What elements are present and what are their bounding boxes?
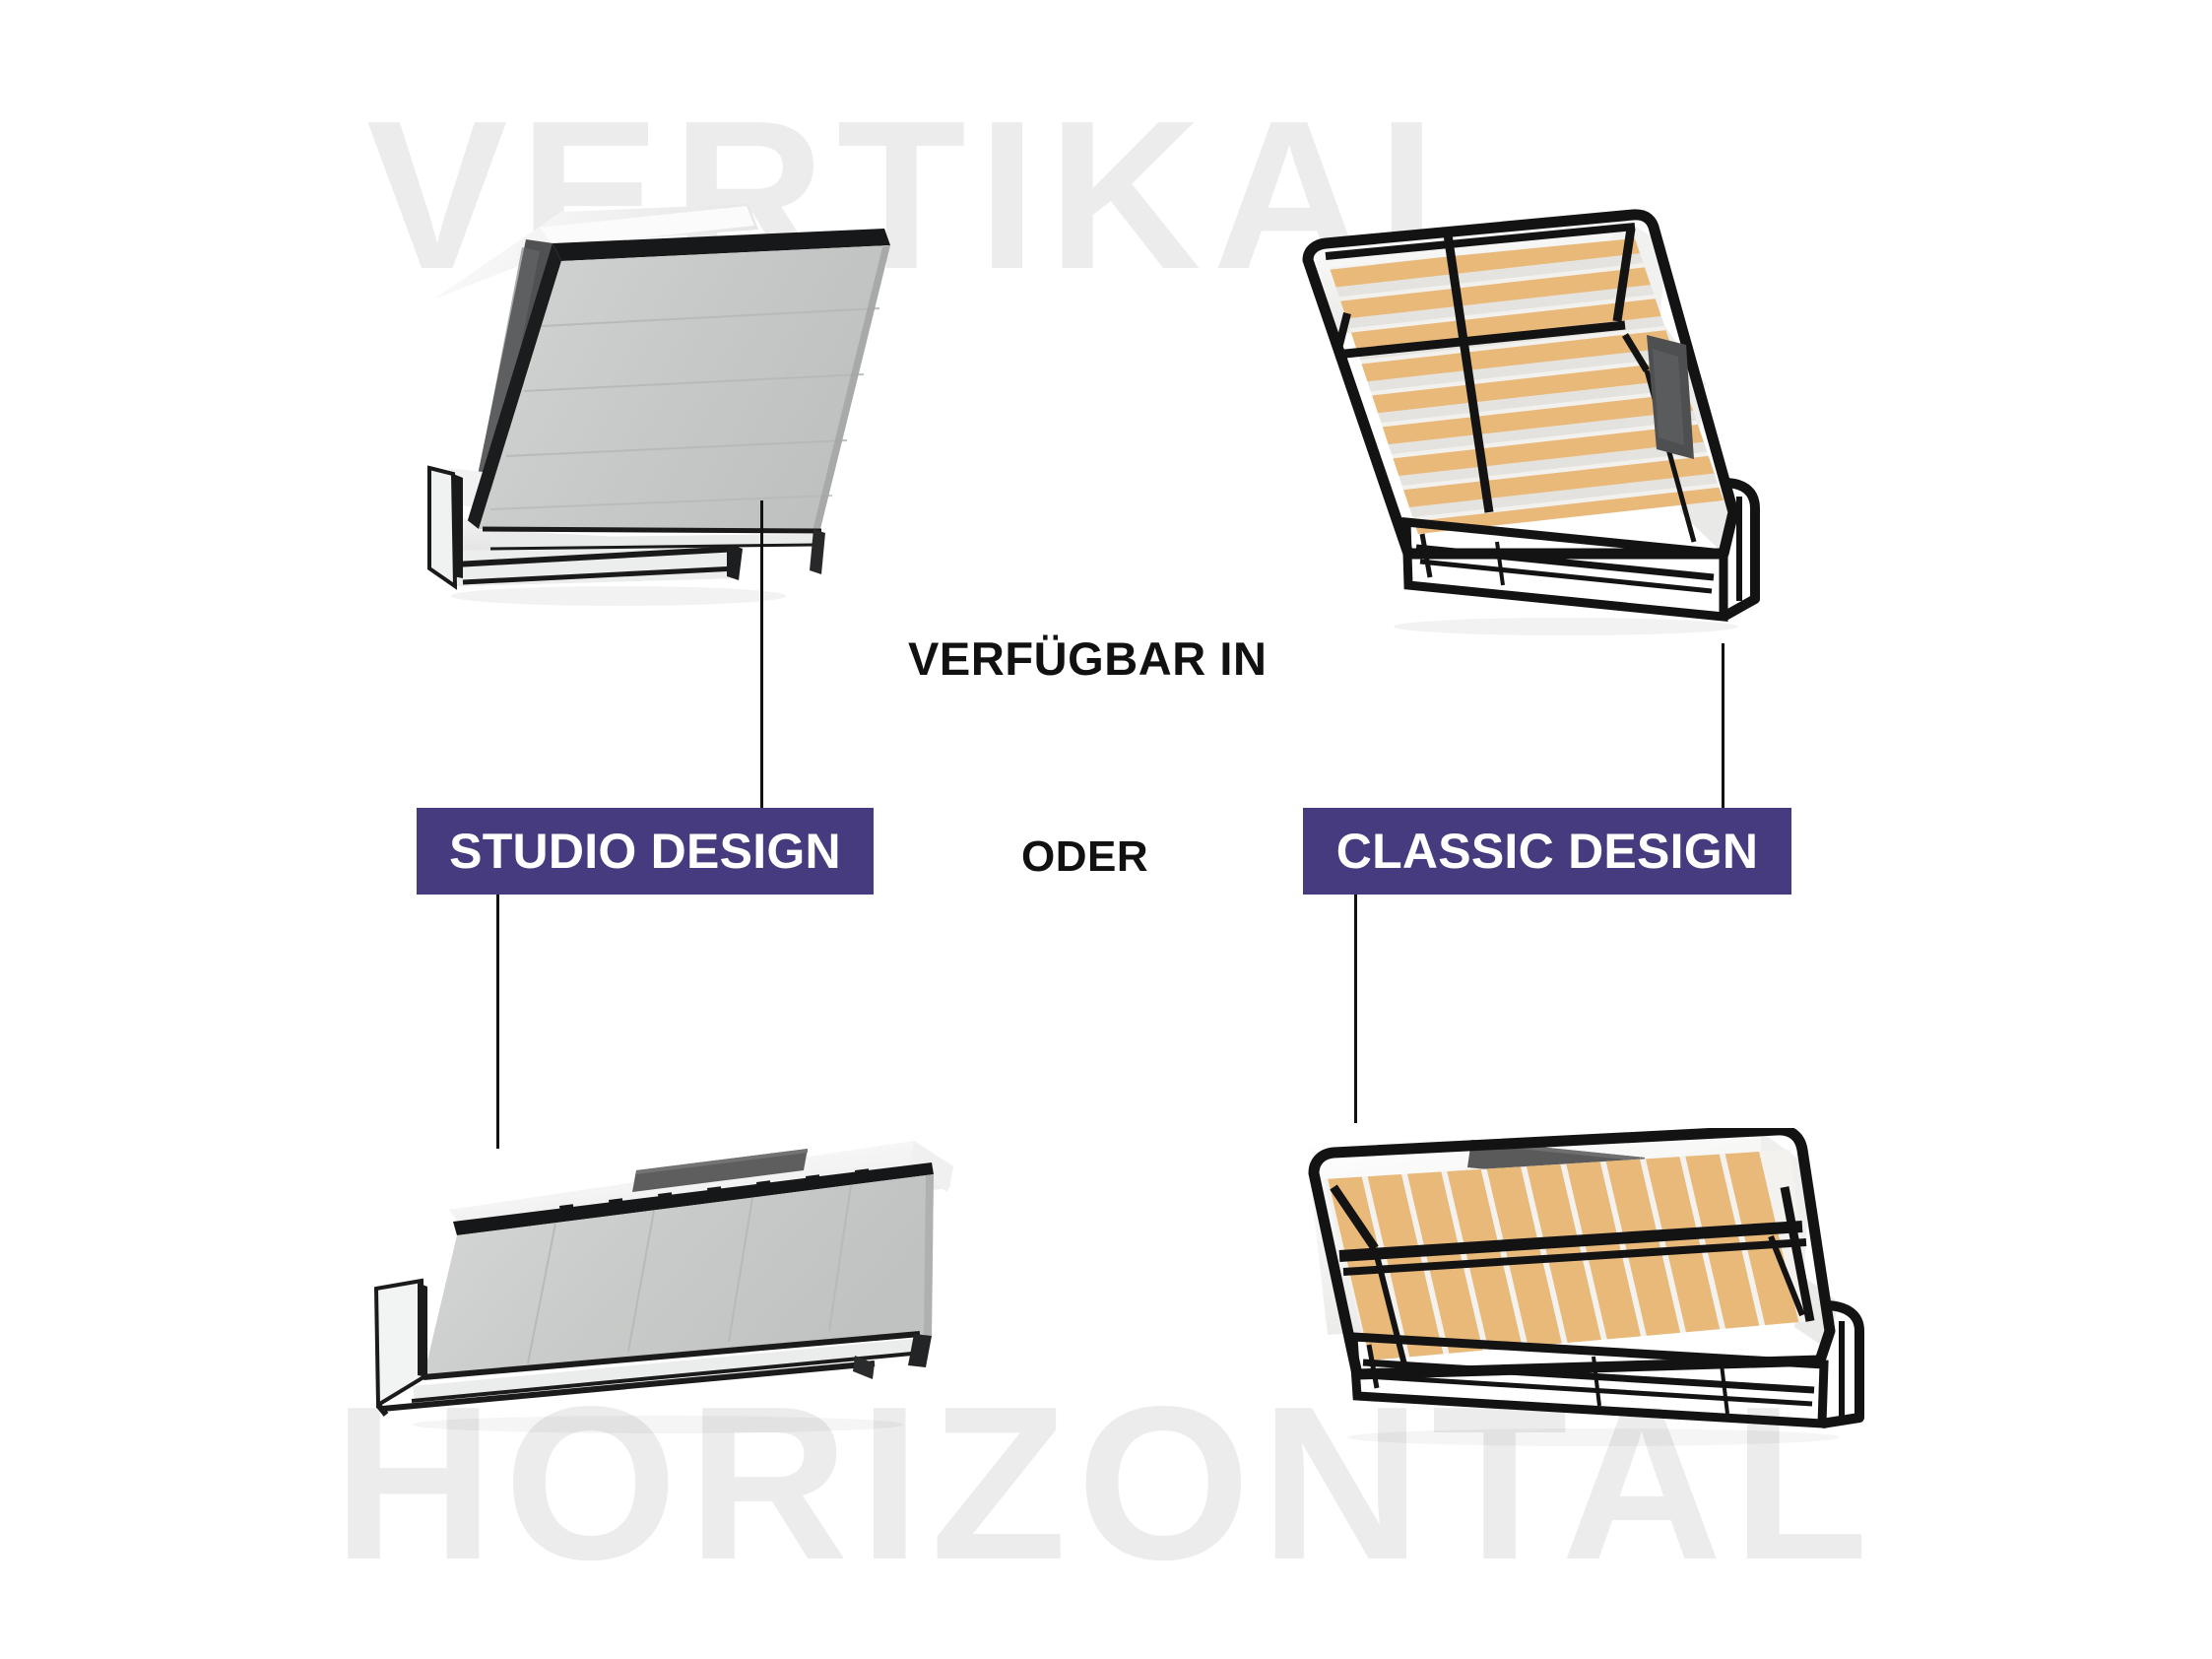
murphy-bed-horizontal-classic-icon <box>1298 1128 1928 1468</box>
badge-classic-design-label: CLASSIC DESIGN <box>1336 827 1759 876</box>
badge-studio-design[interactable]: STUDIO DESIGN <box>417 808 874 895</box>
murphy-bed-horizontal-studio-icon <box>362 1123 973 1458</box>
connector-studio-to-horizontal <box>496 895 499 1149</box>
connector-studio-to-vertical <box>760 500 763 808</box>
conjunction-label: ODER <box>1021 835 1148 879</box>
connector-classic-to-horizontal <box>1354 895 1357 1123</box>
connector-classic-to-vertical <box>1722 643 1724 808</box>
page-headline: VERFÜGBAR IN <box>908 635 1268 682</box>
infographic-canvas: VERTIKAL HORIZONTAL <box>0 0 2212 1659</box>
murphy-bed-vertical-classic-icon <box>1300 187 1852 650</box>
badge-studio-design-label: STUDIO DESIGN <box>449 827 841 876</box>
murphy-bed-vertical-studio-icon <box>392 182 924 635</box>
badge-classic-design[interactable]: CLASSIC DESIGN <box>1303 808 1791 895</box>
